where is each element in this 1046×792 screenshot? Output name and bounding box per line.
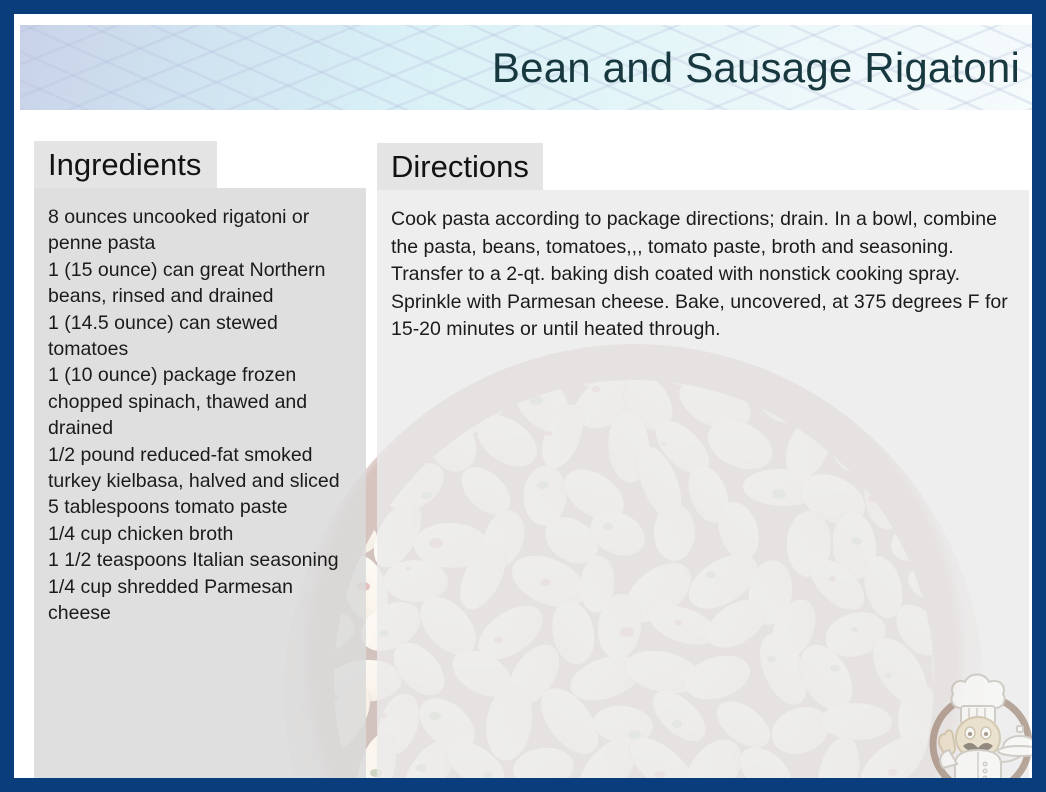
- directions-heading: Directions: [377, 143, 543, 190]
- ingredient-line: tomatoes: [48, 336, 352, 362]
- chef-with-cloche-logo: [919, 652, 1046, 792]
- ingredient-line: 1 (14.5 ounce) can stewed: [48, 310, 352, 336]
- recipe-card: Bean and Sausage Rigatoni Ingredients 8 …: [0, 0, 1046, 792]
- ingredient-line: 1/4 cup shredded Parmesan: [48, 574, 352, 600]
- ingredient-line: 1/2 pound reduced-fat smoked: [48, 442, 352, 468]
- ingredient-line: turkey kielbasa, halved and sliced: [48, 468, 352, 494]
- ingredient-line: penne pasta: [48, 230, 352, 256]
- ingredient-line: 1 (15 ounce) can great Northern: [48, 257, 352, 283]
- ingredient-line: 1 (10 ounce) package frozen: [48, 362, 352, 388]
- ingredient-line: 5 tablespoons tomato paste: [48, 494, 352, 520]
- ingredient-line: chopped spinach, thawed and: [48, 389, 352, 415]
- page-title: Bean and Sausage Rigatoni: [492, 44, 1020, 90]
- ingredient-line: beans, rinsed and drained: [48, 283, 352, 309]
- ingredient-line: cheese: [48, 600, 352, 626]
- ingredient-line: drained: [48, 415, 352, 441]
- ingredient-line: 8 ounces uncooked rigatoni or: [48, 204, 352, 230]
- directions-text: Cook pasta according to package directio…: [391, 206, 1015, 344]
- ingredients-panel: 8 ounces uncooked rigatoni orpenne pasta…: [34, 188, 366, 780]
- title-banner: Bean and Sausage Rigatoni: [20, 25, 1032, 110]
- ingredient-line: 1 1/2 teaspoons Italian seasoning: [48, 547, 352, 573]
- ingredient-line: 1/4 cup chicken broth: [48, 521, 352, 547]
- ingredients-heading: Ingredients: [34, 141, 217, 188]
